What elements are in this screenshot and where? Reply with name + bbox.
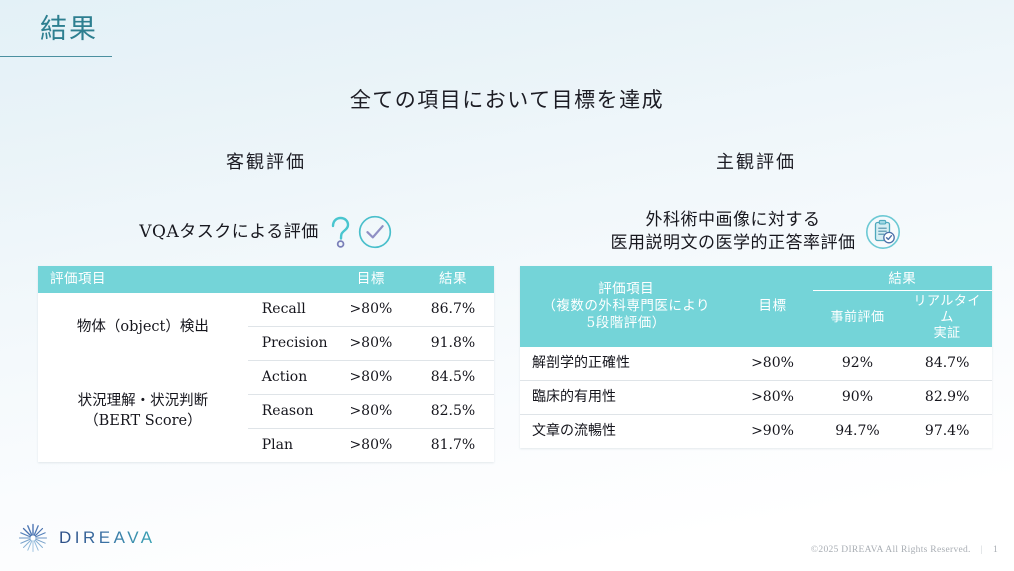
target-cell: >80%: [330, 361, 412, 395]
table-row: 解剖学的正確性 >80% 92% 84.7%: [520, 347, 992, 381]
question-mark-icon: [327, 215, 353, 249]
footer-copyright: ©2025 DIREAVA All Rights Reserved. | 1: [811, 545, 998, 555]
realtime-cell: 82.9%: [902, 381, 992, 415]
header-pre-eval: 事前評価: [813, 291, 903, 348]
header-result: 結果: [813, 266, 992, 291]
table-row: 状況理解・状況判断 （BERT Score） Action >80% 84.5%: [38, 361, 494, 395]
metric-cell: Action: [248, 361, 330, 395]
objective-evaluation-table: 評価項目 目標 結果 物体（object）検出 Recall >80% 86.7…: [38, 266, 494, 462]
realtime-cell: 84.7%: [902, 347, 992, 381]
subjective-description-row: 外科術中画像に対する 医用説明文の医学的正答率評価: [520, 204, 992, 260]
target-cell: >80%: [732, 347, 812, 381]
page-title: 結果: [36, 10, 296, 50]
header-target: 目標: [732, 266, 812, 347]
subjective-evaluation-table: 評価項目 （複数の外科専門医により 5段階評価） 目標 結果 事前評価 リアルタ…: [520, 266, 992, 448]
result-cell: 82.5%: [412, 395, 494, 429]
target-cell: >80%: [330, 395, 412, 429]
metric-cell: Recall: [248, 293, 330, 327]
slide-canvas: 結果 全ての項目において目標を達成 客観評価 VQAタスクによる評価: [0, 0, 1014, 571]
table-header-row: 評価項目 目標 結果: [38, 266, 494, 293]
category-cell: 状況理解・状況判断 （BERT Score）: [38, 361, 248, 463]
table-row: 物体（object）検出 Recall >80% 86.7%: [38, 293, 494, 327]
objective-icons: [327, 214, 393, 250]
copyright-text: ©2025 DIREAVA All Rights Reserved.: [811, 545, 971, 555]
footer-logo: DIREAVA: [16, 521, 156, 555]
logo-wordmark: DIREAVA: [59, 528, 156, 548]
metric-cell: Reason: [248, 395, 330, 429]
header-target: 目標: [330, 266, 412, 293]
result-cell: 84.5%: [412, 361, 494, 395]
title-underline: [0, 56, 112, 57]
result-cell: 91.8%: [412, 327, 494, 361]
title-block: 結果: [36, 10, 296, 57]
table-header-row: 評価項目 （複数の外科専門医により 5段階評価） 目標 結果: [520, 266, 992, 291]
objective-description: VQAタスクによる評価: [139, 221, 318, 244]
objective-description-row: VQAタスクによる評価: [38, 204, 494, 260]
header-realtime-eval: リアルタイム 実証: [902, 291, 992, 348]
objective-table-wrap: 評価項目 目標 結果 物体（object）検出 Recall >80% 86.7…: [38, 266, 494, 462]
target-cell: >80%: [330, 429, 412, 463]
pre-eval-cell: 94.7%: [813, 415, 903, 449]
target-cell: >80%: [330, 327, 412, 361]
target-cell: >90%: [732, 415, 812, 449]
direava-burst-icon: [16, 521, 50, 555]
footer-separator: |: [981, 545, 983, 555]
subjective-description: 外科術中画像に対する 医用説明文の医学的正答率評価: [611, 209, 856, 255]
subjective-evaluation-section: 主観評価 外科術中画像に対する 医用説明文の医学的正答率評価: [520, 148, 992, 448]
realtime-cell: 97.4%: [902, 415, 992, 449]
subjective-heading: 主観評価: [520, 148, 992, 174]
objective-evaluation-section: 客観評価 VQAタスクによる評価: [38, 148, 494, 462]
page-number: 1: [993, 545, 998, 555]
metric-cell: Precision: [248, 327, 330, 361]
item-cell: 臨床的有用性: [520, 381, 732, 415]
check-circle-icon: [357, 214, 393, 250]
objective-table-head: 評価項目 目標 結果: [38, 266, 494, 293]
target-cell: >80%: [330, 293, 412, 327]
pre-eval-cell: 92%: [813, 347, 903, 381]
result-cell: 81.7%: [412, 429, 494, 463]
pre-eval-cell: 90%: [813, 381, 903, 415]
result-cell: 86.7%: [412, 293, 494, 327]
objective-table-body: 物体（object）検出 Recall >80% 86.7% Precision…: [38, 293, 494, 462]
metric-cell: Plan: [248, 429, 330, 463]
objective-heading: 客観評価: [38, 148, 494, 174]
subjective-icons: [864, 213, 902, 251]
header-item: 評価項目: [38, 266, 330, 293]
slide-subtitle: 全ての項目において目標を達成: [0, 84, 1014, 114]
subjective-table-head: 評価項目 （複数の外科専門医により 5段階評価） 目標 結果 事前評価 リアルタ…: [520, 266, 992, 347]
header-result: 結果: [412, 266, 494, 293]
subjective-table-wrap: 評価項目 （複数の外科専門医により 5段階評価） 目標 結果 事前評価 リアルタ…: [520, 266, 992, 448]
clipboard-check-icon: [864, 213, 902, 251]
item-cell: 解剖学的正確性: [520, 347, 732, 381]
header-item: 評価項目 （複数の外科専門医により 5段階評価）: [520, 266, 732, 347]
item-cell: 文章の流暢性: [520, 415, 732, 449]
target-cell: >80%: [732, 381, 812, 415]
table-row: 臨床的有用性 >80% 90% 82.9%: [520, 381, 992, 415]
category-cell: 物体（object）検出: [38, 293, 248, 361]
table-row: 文章の流暢性 >90% 94.7% 97.4%: [520, 415, 992, 449]
subjective-table-body: 解剖学的正確性 >80% 92% 84.7% 臨床的有用性 >80% 90% 8…: [520, 347, 992, 448]
